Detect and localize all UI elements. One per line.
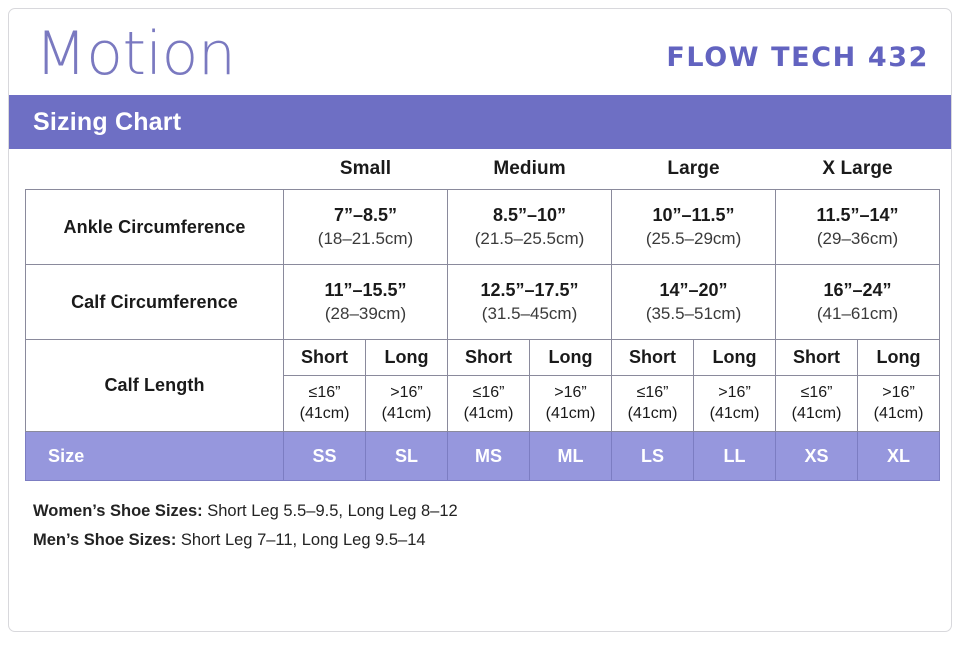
cell-ankle-medium: 8.5”–10” (21.5–25.5cm)	[448, 190, 612, 265]
table-row-calf-length-subheaders: Calf Length Short Long Short Long Short …	[26, 340, 940, 376]
cell-value-cm: (31.5–45cm)	[448, 303, 611, 326]
cell-value-cm: (41cm)	[612, 404, 693, 425]
table-container: Small Medium Large X Large Ankle Circumf…	[9, 149, 951, 481]
cell-value-cm: (25.5–29cm)	[612, 228, 775, 251]
size-code-ms: MS	[448, 432, 530, 481]
card-header: Motion FLOW TECH 432	[9, 9, 951, 95]
cell-value-cm: (41cm)	[366, 404, 447, 425]
cell-ankle-large: 10”–11.5” (25.5–29cm)	[612, 190, 776, 265]
cell-value-cm: (18–21.5cm)	[284, 228, 447, 251]
size-code-sl: SL	[366, 432, 448, 481]
cell-calf-circ-large: 14”–20” (35.5–51cm)	[612, 265, 776, 340]
sizing-chart-band: Sizing Chart	[9, 95, 951, 149]
cell-calf-circ-small: 11”–15.5” (28–39cm)	[284, 265, 448, 340]
subheader-medium-short: Short	[448, 340, 530, 376]
cell-value-cm: (35.5–51cm)	[612, 303, 775, 326]
cell-calf-length-large-long: >16” (41cm)	[694, 376, 776, 432]
cell-value-inches: 10”–11.5”	[612, 203, 775, 227]
table-row-ankle-circumference: Ankle Circumference 7”–8.5” (18–21.5cm) …	[26, 190, 940, 265]
cell-calf-length-x-large-long: >16” (41cm)	[858, 376, 940, 432]
row-label-calf-circumference: Calf Circumference	[26, 265, 284, 340]
footnote-value: Short Leg 7–11, Long Leg 9.5–14	[176, 531, 425, 549]
cell-value-inches: >16”	[858, 383, 939, 404]
cell-ankle-small: 7”–8.5” (18–21.5cm)	[284, 190, 448, 265]
footnote-mens-shoe-sizes: Men’s Shoe Sizes: Short Leg 7–11, Long L…	[33, 526, 951, 555]
header-spacer	[26, 149, 284, 190]
sizing-table: Small Medium Large X Large Ankle Circumf…	[25, 149, 940, 481]
footnote-value: Short Leg 5.5–9.5, Long Leg 8–12	[203, 502, 458, 520]
cell-value-inches: ≤16”	[284, 383, 365, 404]
cell-value-inches: ≤16”	[448, 383, 529, 404]
cell-value-inches: 16”–24”	[776, 278, 939, 302]
size-code-ls: LS	[612, 432, 694, 481]
cell-value-inches: ≤16”	[776, 383, 857, 404]
subheader-large-short: Short	[612, 340, 694, 376]
column-header-small: Small	[284, 149, 448, 190]
size-code-xs: XS	[776, 432, 858, 481]
size-code-ml: ML	[530, 432, 612, 481]
subheader-small-short: Short	[284, 340, 366, 376]
cell-calf-circ-x-large: 16”–24” (41–61cm)	[776, 265, 940, 340]
subheader-small-long: Long	[366, 340, 448, 376]
cell-calf-length-x-large-short: ≤16” (41cm)	[776, 376, 858, 432]
cell-value-cm: (41cm)	[448, 404, 529, 425]
cell-value-cm: (41–61cm)	[776, 303, 939, 326]
brand-logo: Motion	[35, 20, 235, 84]
cell-value-inches: 8.5”–10”	[448, 203, 611, 227]
size-code-ll: LL	[694, 432, 776, 481]
row-label-calf-length: Calf Length	[26, 340, 284, 432]
cell-value-inches: 14”–20”	[612, 278, 775, 302]
subheader-large-long: Long	[694, 340, 776, 376]
size-code-ss: SS	[284, 432, 366, 481]
cell-value-inches: 11.5”–14”	[776, 203, 939, 227]
size-code-xl: XL	[858, 432, 940, 481]
cell-value-cm: (41cm)	[284, 404, 365, 425]
cell-value-inches: 11”–15.5”	[284, 278, 447, 302]
column-header-row: Small Medium Large X Large	[26, 149, 940, 190]
cell-calf-length-small-long: >16” (41cm)	[366, 376, 448, 432]
row-label-size: Size	[26, 432, 284, 481]
table-row-calf-circumference: Calf Circumference 11”–15.5” (28–39cm) 1…	[26, 265, 940, 340]
cell-value-inches: >16”	[366, 383, 447, 404]
cell-value-inches: 12.5”–17.5”	[448, 278, 611, 302]
cell-calf-circ-medium: 12.5”–17.5” (31.5–45cm)	[448, 265, 612, 340]
cell-value-cm: (41cm)	[776, 404, 857, 425]
cell-calf-length-medium-short: ≤16” (41cm)	[448, 376, 530, 432]
footnote-label: Women’s Shoe Sizes:	[33, 502, 203, 520]
cell-calf-length-small-short: ≤16” (41cm)	[284, 376, 366, 432]
table-row-size: Size SS SL MS ML LS LL XS XL	[26, 432, 940, 481]
subheader-x-large-short: Short	[776, 340, 858, 376]
cell-value-cm: (21.5–25.5cm)	[448, 228, 611, 251]
subheader-medium-long: Long	[530, 340, 612, 376]
sizing-chart-card: Motion FLOW TECH 432 Sizing Chart Small …	[8, 8, 952, 632]
column-header-large: Large	[612, 149, 776, 190]
cell-value-cm: (28–39cm)	[284, 303, 447, 326]
cell-value-cm: (41cm)	[858, 404, 939, 425]
product-name: FLOW TECH 432	[666, 32, 929, 73]
column-header-x-large: X Large	[776, 149, 940, 190]
cell-ankle-x-large: 11.5”–14” (29–36cm)	[776, 190, 940, 265]
footnote-womens-shoe-sizes: Women’s Shoe Sizes: Short Leg 5.5–9.5, L…	[33, 497, 951, 526]
cell-calf-length-medium-long: >16” (41cm)	[530, 376, 612, 432]
footnote-label: Men’s Shoe Sizes:	[33, 531, 176, 549]
cell-value-cm: (29–36cm)	[776, 228, 939, 251]
column-header-medium: Medium	[448, 149, 612, 190]
cell-value-inches: >16”	[694, 383, 775, 404]
cell-calf-length-large-short: ≤16” (41cm)	[612, 376, 694, 432]
row-label-ankle-circumference: Ankle Circumference	[26, 190, 284, 265]
cell-value-cm: (41cm)	[530, 404, 611, 425]
footnotes: Women’s Shoe Sizes: Short Leg 5.5–9.5, L…	[9, 481, 951, 555]
cell-value-cm: (41cm)	[694, 404, 775, 425]
cell-value-inches: 7”–8.5”	[284, 203, 447, 227]
cell-value-inches: >16”	[530, 383, 611, 404]
subheader-x-large-long: Long	[858, 340, 940, 376]
cell-value-inches: ≤16”	[612, 383, 693, 404]
band-title: Sizing Chart	[33, 108, 181, 137]
